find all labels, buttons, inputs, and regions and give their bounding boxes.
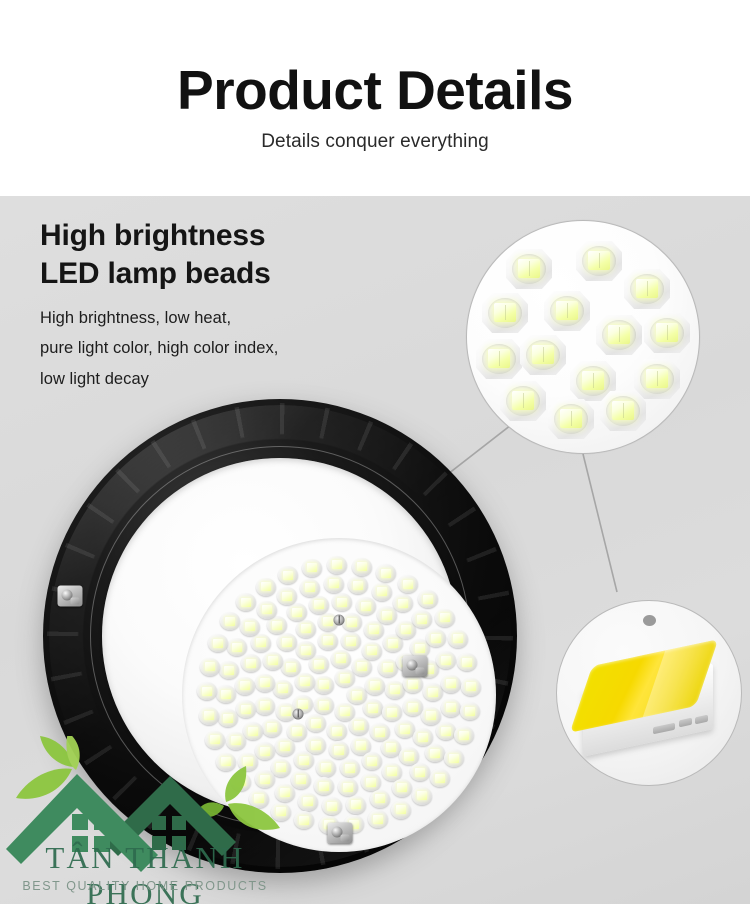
led-bead [448, 630, 468, 648]
led-bead [385, 681, 405, 699]
led-bead [255, 697, 275, 715]
led-bead [520, 335, 566, 375]
plate-screw [293, 708, 304, 719]
led-bead [418, 590, 438, 608]
led-bead [324, 575, 344, 593]
led-bead [457, 653, 477, 671]
magnifier-smd-chip [556, 600, 742, 786]
page-header: Product Details Details conquer everythi… [0, 0, 750, 196]
led-bead [391, 801, 411, 819]
led-bead [365, 677, 385, 695]
led-bead [430, 769, 450, 787]
smd-led-chip [575, 649, 725, 759]
product-detail-page: Product Details Details conquer everythi… [0, 0, 750, 904]
led-bead [322, 797, 342, 815]
led-bead [281, 658, 301, 676]
led-bead [341, 632, 361, 650]
feature-body-line1: High brightness, low heat, [40, 303, 400, 334]
led-bead [346, 796, 366, 814]
led-bead [600, 391, 646, 431]
led-bead [277, 633, 297, 651]
led-bead [236, 700, 256, 718]
led-bead [309, 596, 329, 614]
led-bead [316, 759, 336, 777]
led-bead [240, 618, 260, 636]
feature-headline-line1: High brightness [40, 217, 400, 255]
led-bead [392, 779, 412, 797]
led-bead [378, 659, 398, 677]
led-bead [441, 699, 461, 717]
mounting-clip [328, 823, 353, 844]
feature-copy-block: High brightness LED lamp beads High brig… [40, 217, 400, 394]
led-bead [197, 682, 217, 700]
led-bead [426, 629, 446, 647]
feature-body-text: High brightness, low heat, pure light co… [40, 303, 400, 395]
led-bead [361, 773, 381, 791]
led-bead [287, 603, 307, 621]
watermark-logo: TÂN THÀNH PHONG BEST QUALITY HOME PRODUC… [0, 736, 300, 904]
led-bead [208, 634, 228, 652]
content-area: High brightness LED lamp beads High brig… [0, 196, 750, 904]
led-bead [262, 719, 282, 737]
led-bead [576, 241, 622, 281]
led-bead [296, 620, 316, 638]
led-bead [306, 714, 326, 732]
led-bead [435, 609, 455, 627]
led-bead [461, 678, 481, 696]
led-bead [348, 576, 368, 594]
led-bead [327, 722, 347, 740]
led-bead [362, 752, 382, 770]
led-bead [216, 685, 236, 703]
led-bead [376, 564, 396, 582]
led-bead [412, 787, 432, 805]
led-bead [382, 703, 402, 721]
led-bead [398, 575, 418, 593]
led-bead [218, 709, 238, 727]
led-bead [327, 556, 347, 574]
led-bead [596, 315, 642, 355]
led-bead [352, 658, 372, 676]
page-title: Product Details [0, 62, 750, 120]
led-bead [349, 717, 369, 735]
led-bead [441, 675, 461, 693]
led-bead [362, 642, 382, 660]
led-bead [277, 587, 297, 605]
led-bead [352, 558, 372, 576]
logo-tagline: BEST QUALITY HOME PRODUCTS [0, 879, 290, 893]
led-bead [482, 293, 528, 333]
led-bead [220, 612, 240, 630]
led-bead [257, 601, 277, 619]
feature-body-line3: low light decay [40, 364, 400, 395]
led-bead [425, 744, 445, 762]
led-bead [332, 593, 352, 611]
led-bead [370, 790, 390, 808]
led-bead [236, 593, 256, 611]
plate-screw [334, 614, 345, 625]
led-bead [331, 650, 351, 668]
led-bead [363, 699, 383, 717]
led-bead [506, 249, 552, 289]
led-bead [410, 763, 430, 781]
led-bead [199, 707, 219, 725]
led-bead [314, 676, 334, 694]
led-bead [255, 674, 275, 692]
callout-anchor-dot [643, 615, 656, 626]
led-bead [444, 749, 464, 767]
led-bead [329, 741, 349, 759]
led-bead [314, 696, 334, 714]
led-bead [454, 726, 474, 744]
mounting-clip [403, 656, 428, 677]
led-bead [241, 654, 261, 672]
led-bead [624, 269, 670, 309]
led-bead [251, 634, 271, 652]
led-bead [644, 313, 690, 353]
led-bead [548, 399, 594, 439]
led-bead [340, 759, 360, 777]
led-bead [368, 810, 388, 828]
feature-headline-line2: LED lamp beads [40, 255, 400, 293]
logo-brand-name: TÂN THÀNH PHONG [0, 840, 290, 904]
led-bead [476, 339, 522, 379]
led-bead [436, 722, 456, 740]
led-bead [423, 683, 443, 701]
feature-body-line2: pure light color, high color index, [40, 333, 400, 364]
led-bead [393, 594, 413, 612]
led-bead [267, 616, 287, 634]
page-subtitle: Details conquer everything [0, 131, 750, 153]
led-bead [256, 578, 276, 596]
led-bead [219, 661, 239, 679]
led-bead [278, 566, 298, 584]
led-bead [544, 291, 590, 331]
led-bead [338, 778, 358, 796]
led-bead [372, 583, 392, 601]
led-bead [296, 641, 316, 659]
led-bead [318, 632, 338, 650]
led-bead [300, 579, 320, 597]
led-bead [460, 702, 480, 720]
led-bead [235, 677, 255, 695]
led-bead [302, 559, 322, 577]
led-bead [436, 651, 456, 669]
led-bead [298, 793, 318, 811]
mounting-clip [58, 586, 83, 607]
led-bead [412, 610, 432, 628]
led-bead [342, 613, 362, 631]
led-bead [263, 652, 283, 670]
led-bead [273, 680, 293, 698]
led-bead [227, 638, 247, 656]
led-bead [200, 658, 220, 676]
